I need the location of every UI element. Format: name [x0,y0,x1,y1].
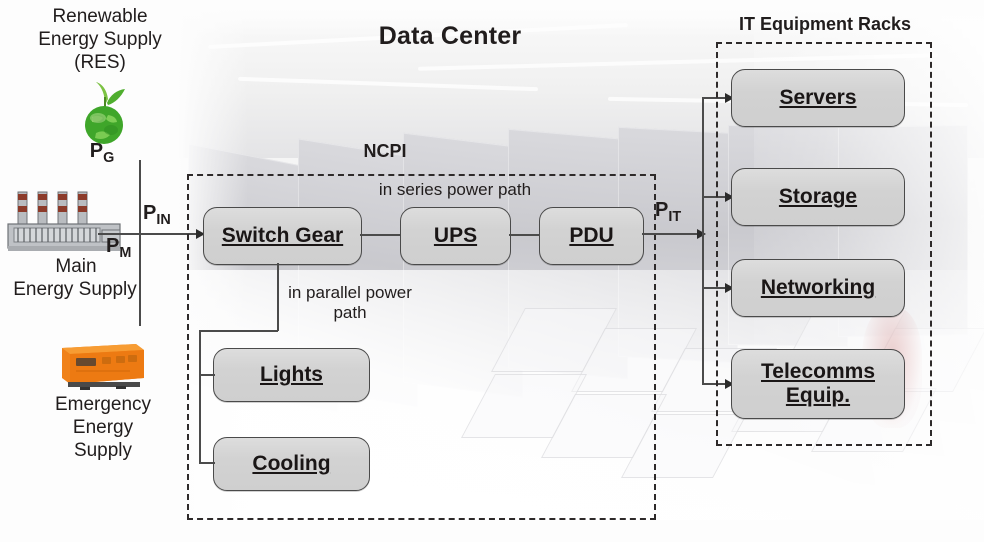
cooling-feed-line [199,462,215,464]
pit-line [642,233,704,235]
box-networking[interactable]: Networking [731,259,905,317]
box-storage-label: Storage [779,185,857,209]
series-power-path-label: in series power path [330,180,580,200]
renewable-label-line1: Renewable [10,6,190,28]
box-lights[interactable]: Lights [213,348,370,402]
power-label-pit: PIT [655,199,715,226]
box-servers[interactable]: Servers [731,69,905,127]
ups-to-pdu-line [509,234,539,236]
emergency-supply-label-line3: Supply [18,440,188,462]
box-telecomms-label-line2: Equip. [786,384,850,408]
box-switch-gear-label: Switch Gear [222,224,343,248]
box-telecomms-label-line1: Telecomms [761,360,875,384]
parallel-power-path-label-line1: in parallel power [255,283,445,303]
emergency-supply-label-line2: Energy [18,417,188,439]
power-label-pm: PM [106,235,154,262]
box-switch-gear[interactable]: Switch Gear [203,207,362,265]
switchgear-drop-line [277,263,279,331]
box-storage[interactable]: Storage [731,168,905,226]
ncpi-title: NCPI [330,141,440,162]
renewable-label-line3: (RES) [10,52,190,74]
renewable-label-line2: Energy Supply [10,29,190,51]
box-cooling[interactable]: Cooling [213,437,370,491]
page-title-data-center: Data Center [330,22,570,51]
parallel-bus-vertical-line [199,330,201,463]
switchgear-to-ups-line [360,234,400,236]
parallel-power-path-label-line2: path [255,303,445,323]
box-telecomms-equipment[interactable]: Telecomms Equip. [731,349,905,419]
parallel-bus-top-line [199,330,278,332]
diagram-canvas: Data Center IT Equipment Racks NCPI Rene… [0,0,984,542]
box-ups-label: UPS [434,224,477,248]
box-pdu-label: PDU [569,224,613,248]
emergency-supply-label-line1: Emergency [18,394,188,416]
box-ups[interactable]: UPS [400,207,511,265]
pm-to-bus-line [98,233,140,235]
box-servers-label: Servers [779,86,856,110]
power-label-pg: PG [72,140,132,167]
green-globe-plant-icon [72,75,136,147]
it-equipment-racks-title: IT Equipment Racks [700,14,950,35]
lights-feed-line [199,374,215,376]
box-cooling-label: Cooling [252,452,330,476]
it-distribution-bus [702,97,704,385]
box-networking-label: Networking [761,276,875,300]
main-supply-label-line2: Energy Supply [0,279,150,301]
box-pdu[interactable]: PDU [539,207,644,265]
diesel-generator-icon [58,338,148,390]
supply-bus-vertical-line [139,160,141,326]
box-lights-label: Lights [260,363,323,387]
